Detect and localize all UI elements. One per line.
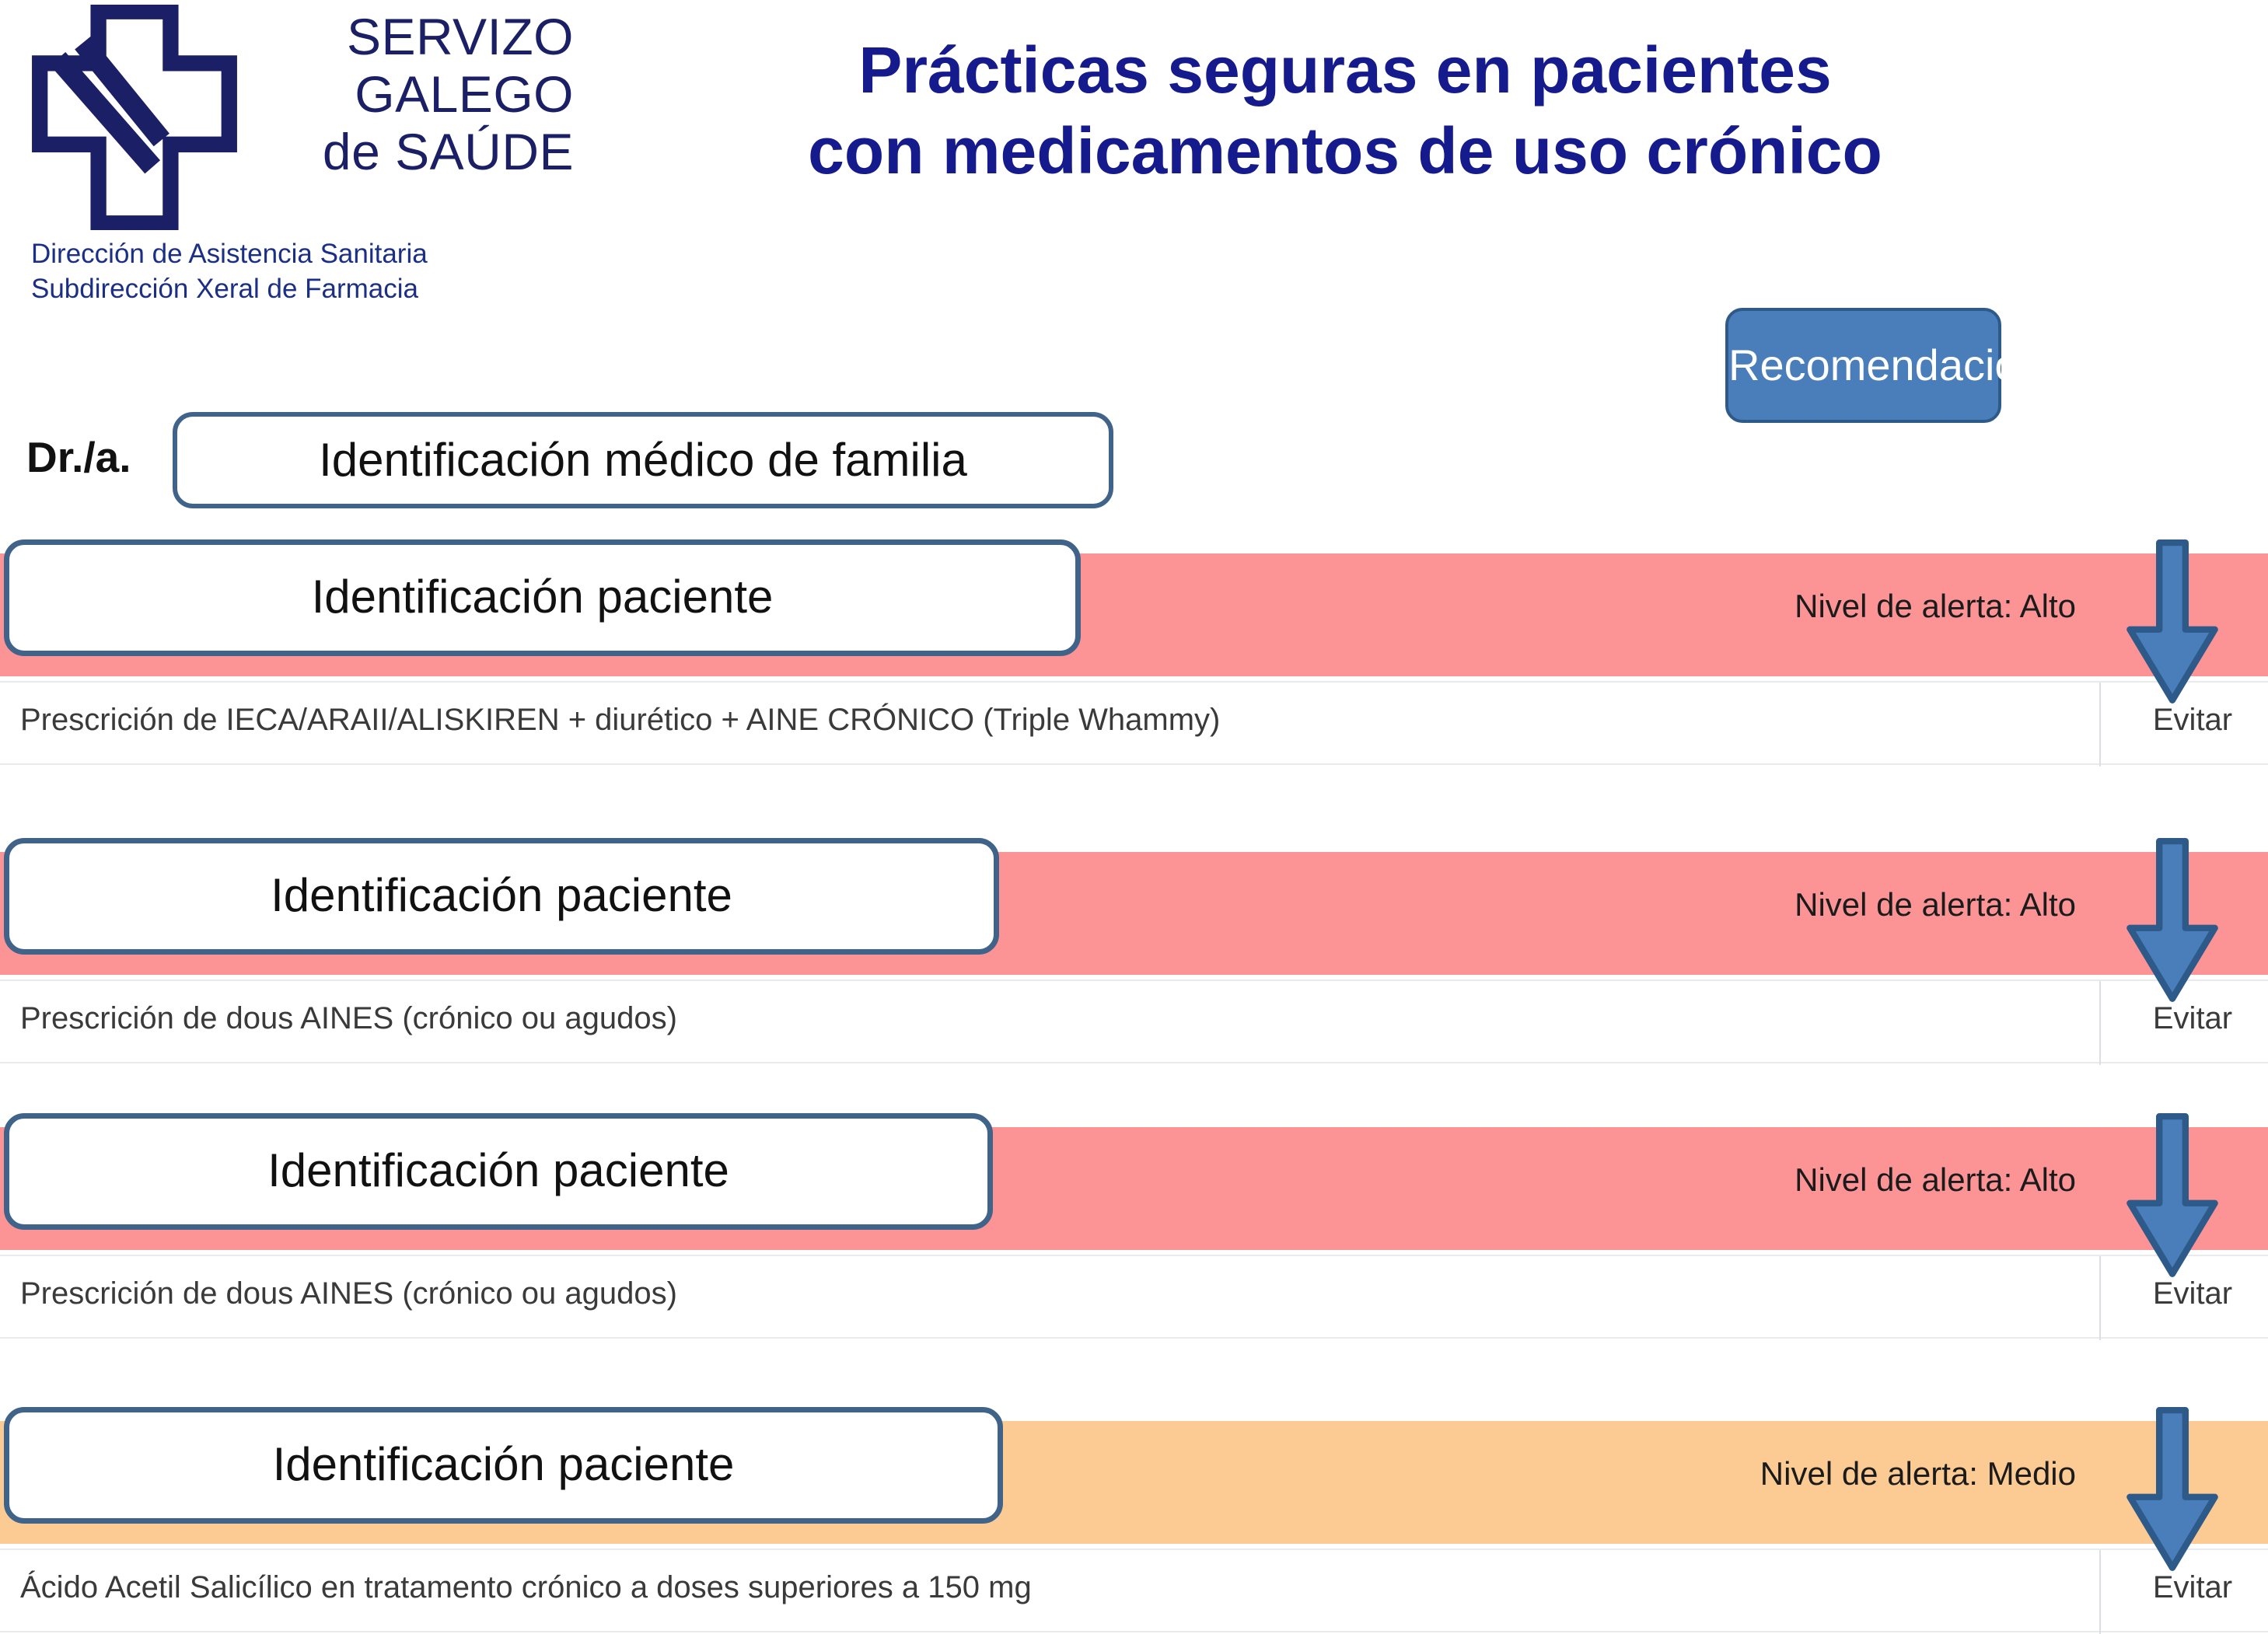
alert-description-text: Prescrición de IECA/ARAII/ALISKIREN + di… (20, 703, 1220, 738)
page-title-line-1: Prácticas seguras en pacientes (684, 30, 2006, 110)
column-divider (2099, 683, 2101, 766)
alert-level-text: Nivel de alerta: Medio (1760, 1455, 2076, 1493)
doctor-identification-field[interactable]: Identificación médico de familia (173, 412, 1113, 508)
column-divider (2099, 981, 2101, 1065)
sergas-logo: SERVIZO GALEGO de SAÚDE Dirección de Asi… (14, 3, 574, 306)
alert-description-text: Ácido Acetil Salicílico en tratamento cr… (20, 1570, 1032, 1605)
alert-level-text: Nivel de alerta: Alto (1794, 886, 2076, 923)
arrow-down-icon (2123, 1407, 2221, 1574)
logo-subtitle-line-1: Dirección de Asistencia Sanitaria (31, 236, 575, 271)
page-header: SERVIZO GALEGO de SAÚDE Dirección de Asi… (0, 0, 2268, 311)
column-divider (2099, 1550, 2101, 1634)
alert-action-label: Evitar (2130, 1276, 2255, 1311)
column-divider (2099, 1256, 2101, 1340)
logo-wordmark: SERVIZO GALEGO de SAÚDE (247, 8, 574, 180)
alert-block: Identificación paciente Nivel de alerta:… (0, 1113, 2268, 1339)
alert-level-text: Nivel de alerta: Alto (1794, 1161, 2076, 1199)
arrow-down-icon (2123, 1113, 2221, 1280)
logo-subtitle-line-2: Subdirección Xeral de Farmacia (31, 271, 575, 306)
doctor-row: Dr./a. Identificación médico de familia (0, 404, 1166, 513)
alert-action-label: Evitar (2130, 1001, 2255, 1036)
patient-identification-field[interactable]: Identificación paciente (4, 539, 1081, 656)
patient-identification-field[interactable]: Identificación paciente (4, 838, 999, 955)
logo-word-line-3: de SAÚDE (247, 123, 574, 180)
logo-subtitle: Dirección de Asistencia Sanitaria Subdir… (31, 236, 575, 306)
alert-action-label: Evitar (2130, 1570, 2255, 1605)
logo-word-line-1: SERVIZO (247, 8, 574, 65)
arrow-down-icon (2123, 539, 2221, 707)
alert-description-row: Prescrición de dous AINES (crónico ou ag… (0, 1255, 2268, 1339)
alert-block: Identificación paciente Nivel de alerta:… (0, 1407, 2268, 1632)
patient-identification-value: Identificación paciente (9, 843, 994, 948)
alert-block: Identificación paciente Nivel de alerta:… (0, 838, 2268, 1063)
alert-level-text: Nivel de alerta: Alto (1794, 588, 2076, 625)
patient-identification-value: Identificación paciente (9, 545, 1075, 649)
patient-identification-field[interactable]: Identificación paciente (4, 1407, 1003, 1524)
patient-identification-value: Identificación paciente (9, 1412, 998, 1517)
logo-word-line-2: GALEGO (247, 65, 574, 123)
alert-description-row: Prescrición de dous AINES (crónico ou ag… (0, 979, 2268, 1063)
doctor-label: Dr./a. (26, 432, 131, 482)
health-cross-icon (22, 5, 247, 230)
page-title-line-2: con medicamentos de uso crónico (684, 110, 2006, 191)
alert-block: Identificación paciente Nivel de alerta:… (0, 539, 2268, 765)
page-title: Prácticas seguras en pacientes con medic… (684, 30, 2006, 191)
alert-description-text: Prescrición de dous AINES (crónico ou ag… (20, 1001, 677, 1036)
arrow-down-icon (2123, 838, 2221, 1005)
alert-action-label: Evitar (2130, 703, 2255, 738)
patient-identification-value: Identificación paciente (9, 1119, 987, 1223)
recommendation-badge[interactable]: Recomendación (1725, 308, 2001, 423)
alert-description-text: Prescrición de dous AINES (crónico ou ag… (20, 1276, 677, 1311)
alert-description-row: Prescrición de IECA/ARAII/ALISKIREN + di… (0, 681, 2268, 765)
doctor-identification-value: Identificación médico de familia (177, 417, 1109, 504)
patient-identification-field[interactable]: Identificación paciente (4, 1113, 993, 1230)
alert-description-row: Ácido Acetil Salicílico en tratamento cr… (0, 1548, 2268, 1632)
